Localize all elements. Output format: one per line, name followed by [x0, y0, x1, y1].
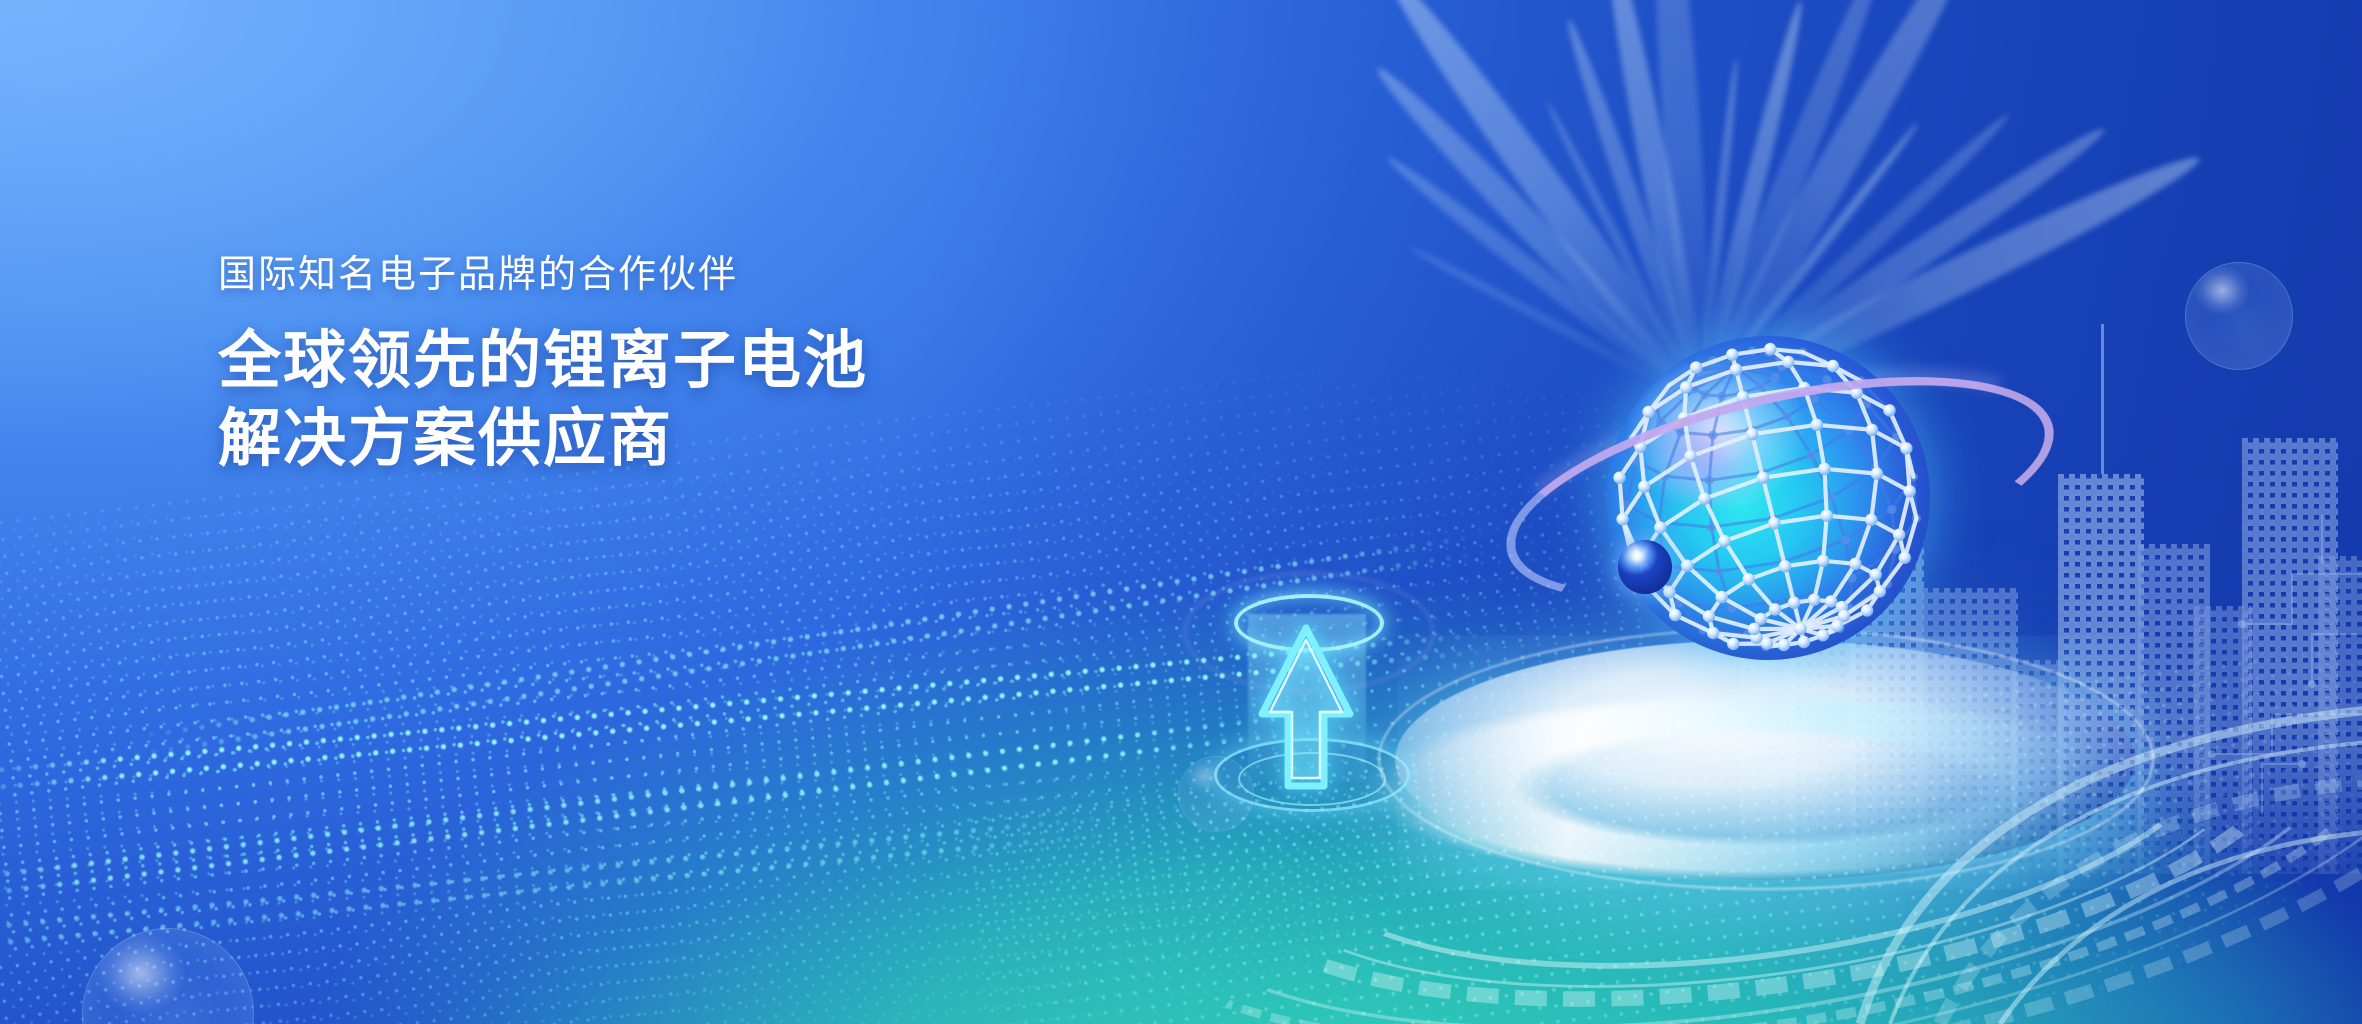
globe-mesh-node	[1680, 381, 1692, 393]
globe-mesh-node	[1755, 613, 1767, 625]
globe-mesh-node	[1769, 603, 1781, 615]
translucent-bubble-icon	[2185, 262, 2293, 370]
globe-mesh-node	[1817, 629, 1829, 641]
globe-mesh-node	[1761, 637, 1773, 649]
globe-mesh-node	[1808, 594, 1820, 606]
banner-subtitle: 国际知名电子品牌的合作伙伴	[218, 252, 1198, 300]
globe-mesh-node	[1700, 390, 1709, 399]
globe-mesh-node	[1827, 360, 1839, 372]
upward-arrow-icon	[1246, 618, 1366, 798]
globe-mesh-node	[1717, 392, 1726, 401]
globe-mesh-node	[1825, 595, 1837, 607]
city-tower-spire	[2101, 324, 2104, 474]
hero-banner: 国际知名电子品牌的合作伙伴 全球领先的锂离子电池 解决方案供应商	[0, 0, 2362, 1024]
globe-mesh-edge	[1782, 367, 1827, 380]
globe-mesh-node	[1798, 636, 1810, 648]
globe-mesh-node	[1643, 406, 1655, 418]
globe-mesh-node	[1748, 623, 1760, 635]
headline-line-2: 解决方案供应商	[218, 400, 1198, 479]
banner-headline: 全球领先的锂离子电池 解决方案供应商	[218, 322, 1198, 480]
orbit-node-sphere-icon	[1618, 540, 1672, 594]
globe-mesh-node	[1771, 373, 1780, 382]
globe-mesh-node	[1707, 627, 1719, 639]
globe-mesh-node	[1794, 623, 1806, 635]
headline-line-1: 全球领先的锂离子电池	[218, 322, 1198, 401]
globe-mesh-node	[1764, 343, 1776, 355]
globe-mesh-edge	[1649, 387, 1686, 412]
swoosh-ribbon-icon	[1850, 560, 2362, 1024]
globe-mesh-node	[1831, 620, 1843, 632]
globe-mesh-node	[1727, 638, 1739, 650]
globe-mesh-node	[1730, 363, 1742, 375]
globe-mesh-node	[1726, 349, 1738, 361]
globe-mesh-node	[1778, 639, 1790, 651]
globe-mesh-node	[1703, 610, 1715, 622]
globe-mesh-node	[1669, 609, 1681, 621]
globe-mesh-node	[1756, 382, 1765, 391]
globe-mesh-edge	[1709, 616, 1754, 629]
globe-mesh-node	[1788, 597, 1800, 609]
globe-mesh-node	[1690, 361, 1702, 373]
banner-copy: 国际知名电子品牌的合作伙伴 全球领先的锂离子电池 解决方案供应商	[218, 252, 1198, 479]
translucent-bubble-icon	[1178, 756, 1254, 832]
globe-mesh-node	[1782, 356, 1794, 368]
